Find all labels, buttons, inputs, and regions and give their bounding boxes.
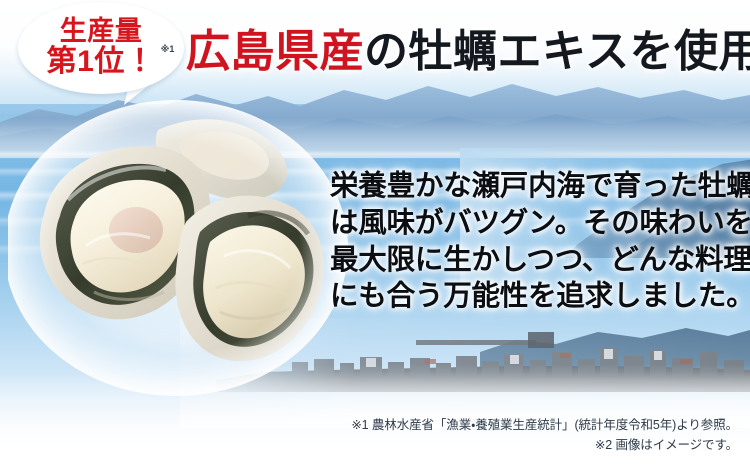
footnotes: ※1 農林水産省「漁業・養殖業生産統計」(統計年度令和5年)より参照。 ※2 画… — [351, 416, 738, 455]
badge-line-2-text: 第1位！ — [47, 45, 156, 78]
rank-badge: 生産量 第1位！ ※1 — [18, 2, 184, 94]
badge-footnote-marker: ※1 — [161, 45, 175, 54]
body-copy: 栄養豊かな瀬戸内海で育った牡蠣 は風味がバツグン。その味わいを 最大限に生かしつ… — [330, 168, 742, 315]
body-line: 最大限に生かしつつ、どんな料理 — [330, 242, 742, 279]
footnote-1: ※1 農林水産省「漁業・養殖業生産統計」(統計年度令和5年)より参照。 — [351, 416, 738, 435]
headline-dark: の牡蠣エキスを使用 — [364, 27, 750, 76]
badge-line-1: 生産量 — [60, 18, 143, 46]
body-line: にも合う万能性を追求しました。 — [330, 278, 742, 315]
product-banner: 広島県産の牡蠣エキスを使用 生産量 第1位！ ※1 栄養豊かな瀬戸内海で育った牡… — [0, 0, 750, 465]
badge-line-2: 第1位！ ※1 — [47, 47, 156, 78]
headline-red: 広島県産 — [186, 27, 364, 76]
oyster-photo — [8, 96, 348, 396]
body-line: 栄養豊かな瀬戸内海で育った牡蠣 — [330, 168, 742, 205]
body-line: は風味がバツグン。その味わいを — [330, 205, 742, 242]
footnote-2: ※2 画像はイメージです。 — [351, 436, 738, 455]
page-title: 広島県産の牡蠣エキスを使用 — [186, 30, 750, 74]
